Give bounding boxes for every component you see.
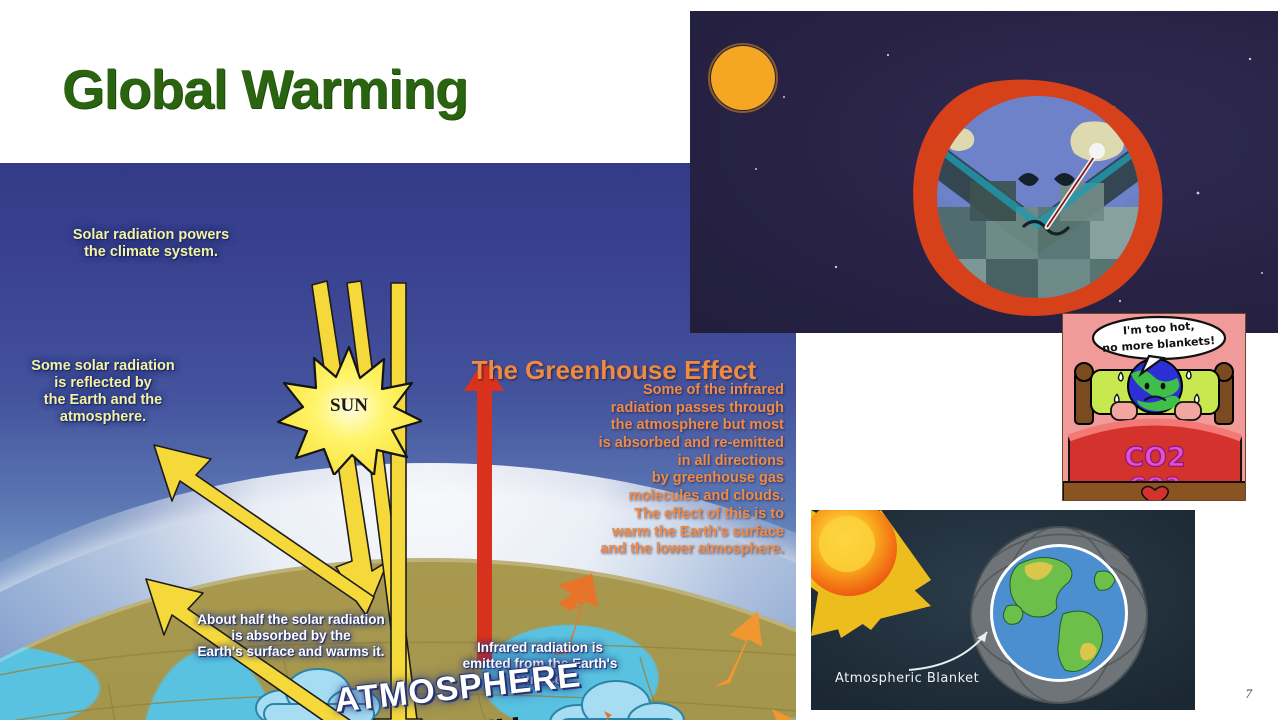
sun-icon bbox=[711, 46, 775, 110]
atmospheric-blanket-image: Atmospheric Blanket bbox=[811, 510, 1195, 710]
page-number: 7 bbox=[1246, 686, 1253, 702]
sad-earth-space-image bbox=[690, 11, 1278, 333]
sun-label: SUN bbox=[276, 395, 422, 417]
page-title: Global Warming bbox=[62, 62, 468, 117]
callout-solar-powers: Solar radiation powers the climate syste… bbox=[46, 227, 256, 261]
atmospheric-blanket-annotation: Atmospheric Blanket bbox=[835, 671, 979, 686]
slide-global-warming: Global Warming bbox=[0, 0, 1280, 720]
co2-label: CO2 bbox=[1124, 442, 1186, 473]
callout-solar-reflected: Some solar radiation is reflected by the… bbox=[8, 358, 198, 426]
greenhouse-effect-diagram: SUN The Greenhouse Effect Some of the in… bbox=[0, 163, 796, 720]
greenhouse-body-text: Some of the infrared radiation passes th… bbox=[444, 382, 784, 559]
callout-solar-absorbed: About half the solar radiation is absorb… bbox=[172, 612, 410, 659]
earth-in-bed-cartoon: CO2 CO2 I'm too hot, no more blankets! bbox=[1062, 313, 1246, 501]
